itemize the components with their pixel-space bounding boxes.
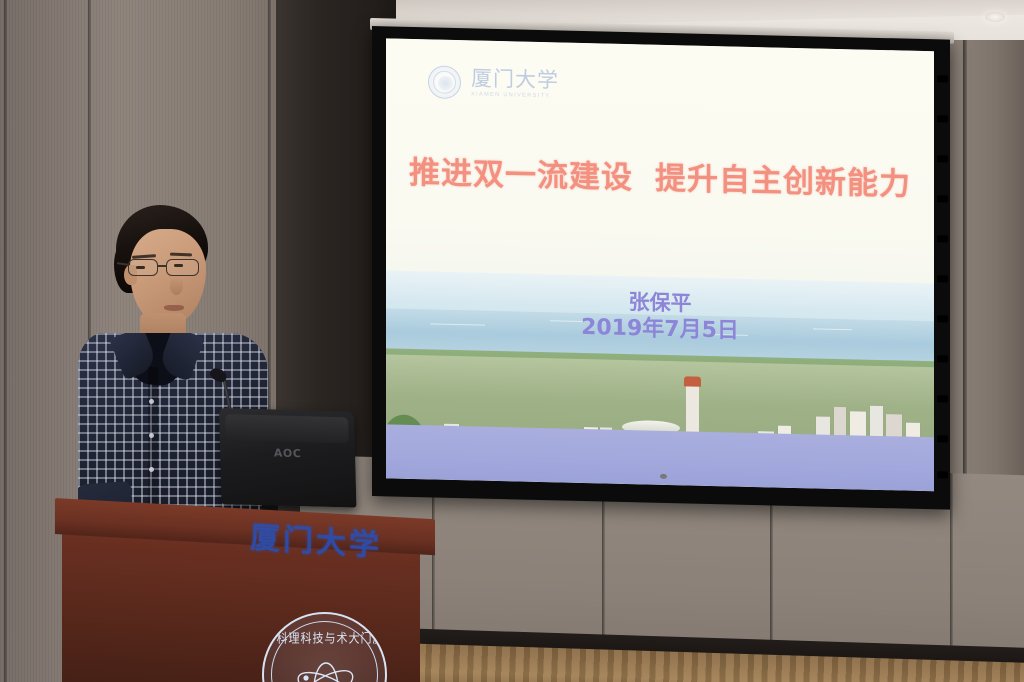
shirt-button	[149, 433, 154, 438]
shirt-button	[149, 399, 154, 404]
slide-bottom-band	[386, 424, 934, 491]
podium-seal-text: 学科理科技与术大门厦	[264, 629, 385, 647]
projection-screen: 厦门大学 XIAMEN UNIVERSITY	[372, 26, 950, 510]
university-name-cn: 厦门大学	[471, 68, 559, 91]
shirt-button	[149, 467, 154, 472]
university-logo: 厦门大学 XIAMEN UNIVERSITY	[428, 65, 559, 101]
nose	[170, 277, 183, 295]
university-seal-icon	[428, 65, 461, 99]
university-name-en: XIAMEN UNIVERSITY	[471, 91, 559, 99]
glasses-icon	[126, 259, 214, 279]
presentation-slide: 厦门大学 XIAMEN UNIVERSITY	[386, 38, 934, 491]
screen-tension-tabs	[936, 53, 948, 493]
slide-title-part2: 提升自主创新能力	[655, 161, 911, 203]
slide-title-part1: 推进双一流建设	[409, 155, 633, 196]
screen-center-marker	[660, 474, 667, 479]
lecture-hall-photo: 厦门大学 XIAMEN UNIVERSITY	[0, 0, 1024, 682]
atom-icon	[292, 662, 360, 682]
monitor-back-bevel	[225, 414, 349, 443]
monitor: AOC	[219, 408, 356, 508]
monitor-brand-label: AOC	[274, 446, 302, 460]
downlight-icon	[985, 12, 1005, 22]
mouth	[164, 305, 184, 311]
wall-seam	[4, 0, 7, 682]
